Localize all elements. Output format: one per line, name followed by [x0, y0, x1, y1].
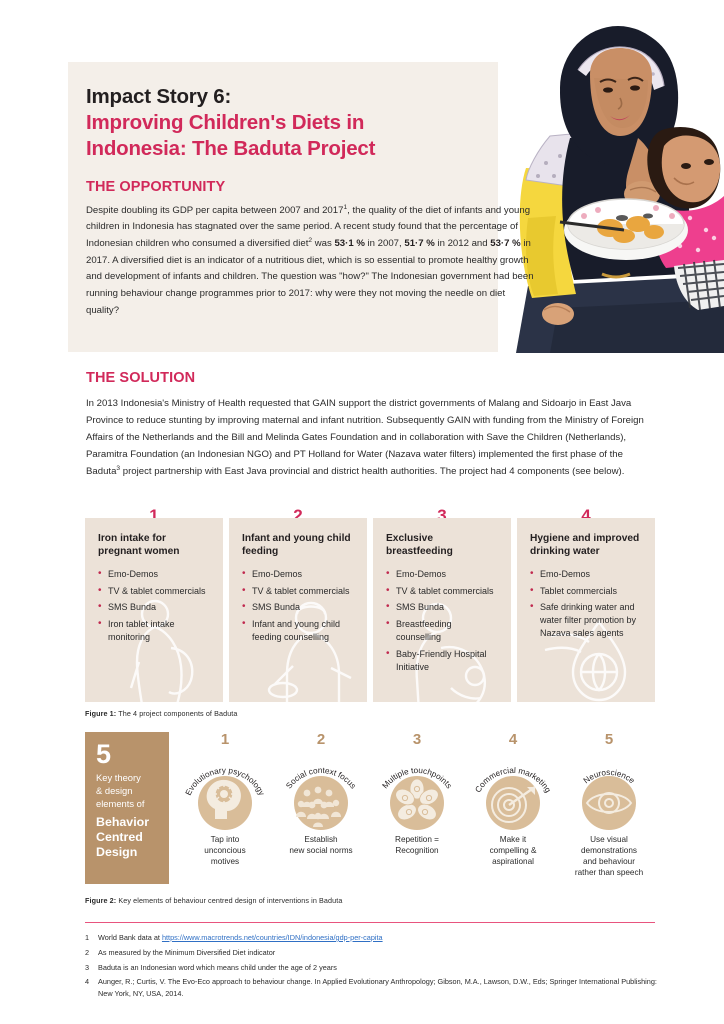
bcd-item-list: 1 Evolutionary psychology	[177, 732, 655, 884]
footnote-text: As measured by the Minimum Diversified D…	[98, 947, 275, 958]
bcd-desc-l3: aspirational	[467, 857, 559, 868]
footnote-text-a: World Bank data at	[98, 933, 162, 942]
stat-value-2012: 51·7 %	[404, 238, 434, 249]
figure-2-caption: Figure 2: Key elements of behaviour cent…	[85, 896, 342, 905]
bcd-desc-l1: Establish	[275, 835, 367, 846]
component-card-1[interactable]: Iron intake for pregnant women Emo-Demos…	[85, 518, 223, 702]
solution-paragraph: In 2013 Indonesia's Ministry of Health r…	[86, 395, 656, 480]
footnote-index: 1	[85, 932, 98, 943]
bcd-item-number: 5	[561, 732, 657, 747]
opp-text-f: in 2017. A diversified diet is an indica…	[86, 238, 534, 316]
hero-text-block: Impact Story 6: Improving Children's Die…	[86, 84, 532, 320]
bcd-circle-2: Social context focus	[273, 749, 369, 833]
figure-2-label: Figure 2:	[85, 896, 116, 905]
bcd-strong-l3: Design	[96, 845, 160, 860]
footnote-text: Aunger, R.; Curtis, V. The Evo-Eco appro…	[98, 976, 657, 999]
component-card-3[interactable]: Exclusive breastfeeding Emo-Demos TV & t…	[373, 518, 511, 702]
bcd-desc-l2: Recognition	[371, 846, 463, 857]
opportunity-paragraph: Despite doubling its GDP per capita betw…	[86, 203, 534, 320]
footnote-link[interactable]: https://www.macrotrends.net/countries/ID…	[162, 933, 383, 942]
footnote-4: 4 Aunger, R.; Curtis, V. The Evo-Eco app…	[85, 976, 657, 999]
bcd-desc-l1: Tap into	[179, 835, 271, 846]
bcd-item-description: Use visual demonstrations and behaviour …	[561, 835, 657, 879]
card-title: Iron intake for pregnant women	[98, 532, 210, 559]
page-title-line1: Impact Story 6:	[86, 84, 532, 110]
bcd-desc-l1: Repetition =	[371, 835, 463, 846]
bcd-desc-l2: unconcious	[179, 846, 271, 857]
footnotes-list: 1 World Bank data at https://www.macrotr…	[85, 932, 657, 1002]
figure-2-text: Key elements of behaviour centred design…	[116, 896, 342, 905]
page-title-line2: Improving Children's Diets in	[86, 110, 532, 136]
component-cards: Iron intake for pregnant women Emo-Demos…	[85, 518, 655, 702]
bcd-circle-5: Neuroscience	[561, 749, 657, 833]
sol-text-b: project partnership with East Java provi…	[120, 466, 624, 477]
bcd-item-5[interactable]: 5 Neuroscience	[561, 732, 657, 884]
component-card-4[interactable]: Hygiene and improved drinking water Emo-…	[517, 518, 655, 702]
bcd-item-description: Make it compelling & aspirational	[465, 835, 561, 868]
footnote-divider	[85, 922, 655, 923]
opportunity-heading: THE OPPORTUNITY	[86, 179, 532, 195]
footnote-text: Baduta is an Indonesian word which means…	[98, 962, 337, 973]
bcd-strong-l1: Behavior	[96, 815, 160, 830]
bcd-subtitle: Key theory & design elements of	[96, 772, 160, 811]
footnote-index: 4	[85, 976, 98, 999]
page-title-line3: Indonesia: The Baduta Project	[86, 136, 532, 162]
list-item: Iron tablet intake monitoring	[98, 618, 210, 644]
bcd-item-description: Repetition = Recognition	[369, 835, 465, 857]
bcd-desc-l4: rather than speech	[563, 868, 655, 879]
list-item: Infant and young child feeding counselli…	[242, 618, 354, 644]
component-card-2[interactable]: Infant and young child feeding Emo-Demos…	[229, 518, 367, 702]
list-item: SMS Bunda	[98, 601, 210, 614]
card-title: Hygiene and improved drinking water	[530, 532, 642, 559]
bcd-circle-1: Evolutionary psychology	[177, 749, 273, 833]
bcd-subtitle-l2: & design	[96, 785, 160, 798]
card-title: Exclusive breastfeeding	[386, 532, 498, 559]
bcd-desc-l2: compelling &	[467, 846, 559, 857]
bcd-item-number: 3	[369, 732, 465, 747]
footnote-1: 1 World Bank data at https://www.macrotr…	[85, 932, 657, 943]
bcd-number: 5	[96, 742, 160, 768]
list-item: SMS Bunda	[386, 601, 498, 614]
bcd-item-description: Tap into unconcious motives	[177, 835, 273, 868]
bcd-item-3[interactable]: 3	[369, 732, 465, 884]
bcd-strong-title: Behavior Centred Design	[96, 815, 160, 861]
bcd-item-2[interactable]: 2	[273, 732, 369, 884]
list-item: Emo-Demos	[530, 568, 642, 581]
figure-1-label: Figure 1:	[85, 709, 116, 718]
opp-text-e: in 2012 and	[435, 238, 490, 249]
list-item: Emo-Demos	[98, 568, 210, 581]
bcd-desc-l3: and behaviour	[563, 857, 655, 868]
bcd-item-number: 4	[465, 732, 561, 747]
bcd-desc-l1: Make it	[467, 835, 559, 846]
footnote-text: World Bank data at https://www.macrotren…	[98, 932, 383, 943]
list-item: Emo-Demos	[242, 568, 354, 581]
figure-1-text: The 4 project components of Baduta	[116, 709, 237, 718]
card-bullet-list: Emo-Demos TV & tablet commercials SMS Bu…	[98, 568, 210, 644]
bcd-item-number: 1	[177, 732, 273, 747]
bcd-subtitle-l1: Key theory	[96, 772, 160, 785]
footnote-3: 3 Baduta is an Indonesian word which mea…	[85, 962, 657, 973]
card-bullet-list: Emo-Demos Tablet commercials Safe drinki…	[530, 568, 642, 641]
list-item: TV & tablet commercials	[242, 585, 354, 598]
solution-heading: THE SOLUTION	[86, 370, 658, 386]
opp-text-a: Despite doubling its GDP per capita betw…	[86, 205, 343, 216]
list-item: TV & tablet commercials	[98, 585, 210, 598]
stat-value-2007: 53·1 %	[334, 238, 364, 249]
card-bullet-list: Emo-Demos TV & tablet commercials SMS Bu…	[242, 568, 354, 644]
bcd-subtitle-l3: elements of	[96, 798, 160, 811]
bcd-circle-3: Multiple touchpoints	[369, 749, 465, 833]
bcd-item-description: Establish new social norms	[273, 835, 369, 857]
footnote-index: 3	[85, 962, 98, 973]
solution-section: THE SOLUTION In 2013 Indonesia's Ministr…	[86, 370, 658, 480]
footnote-index: 2	[85, 947, 98, 958]
bcd-circle-4: Commercial marketing	[465, 749, 561, 833]
card-bullet-list: Emo-Demos TV & tablet commercials SMS Bu…	[386, 568, 498, 674]
list-item: Safe drinking water and water filter pro…	[530, 601, 642, 640]
footnote-2: 2 As measured by the Minimum Diversified…	[85, 947, 657, 958]
bcd-item-number: 2	[273, 732, 369, 747]
list-item: Breastfeeding counselling	[386, 618, 498, 644]
list-item: Baby-Friendly Hospital Initiative	[386, 648, 498, 674]
bcd-desc-l2: new social norms	[275, 846, 367, 857]
bcd-desc-l1: Use visual	[563, 835, 655, 846]
list-item: Tablet commercials	[530, 585, 642, 598]
list-item: TV & tablet commercials	[386, 585, 498, 598]
opp-text-c: was	[312, 238, 334, 249]
bcd-desc-l3: motives	[179, 857, 271, 868]
bcd-item-4[interactable]: 4 Commercial marketing	[465, 732, 561, 884]
bcd-left-panel: 5 Key theory & design elements of Behavi…	[85, 732, 169, 884]
bcd-strong-l2: Centred	[96, 830, 160, 845]
figure-1-caption: Figure 1: The 4 project components of Ba…	[85, 709, 238, 718]
card-title: Infant and young child feeding	[242, 532, 354, 559]
behaviour-centred-design-band: 5 Key theory & design elements of Behavi…	[85, 732, 655, 884]
document-page: Impact Story 6: Improving Children's Die…	[0, 0, 724, 1024]
stat-value-2017: 53·7 %	[490, 238, 520, 249]
list-item: Emo-Demos	[386, 568, 498, 581]
bcd-item-1[interactable]: 1 Evolutionary psychology	[177, 732, 273, 884]
list-item: SMS Bunda	[242, 601, 354, 614]
opp-text-d: in 2007,	[365, 238, 404, 249]
bcd-desc-l2: demonstrations	[563, 846, 655, 857]
